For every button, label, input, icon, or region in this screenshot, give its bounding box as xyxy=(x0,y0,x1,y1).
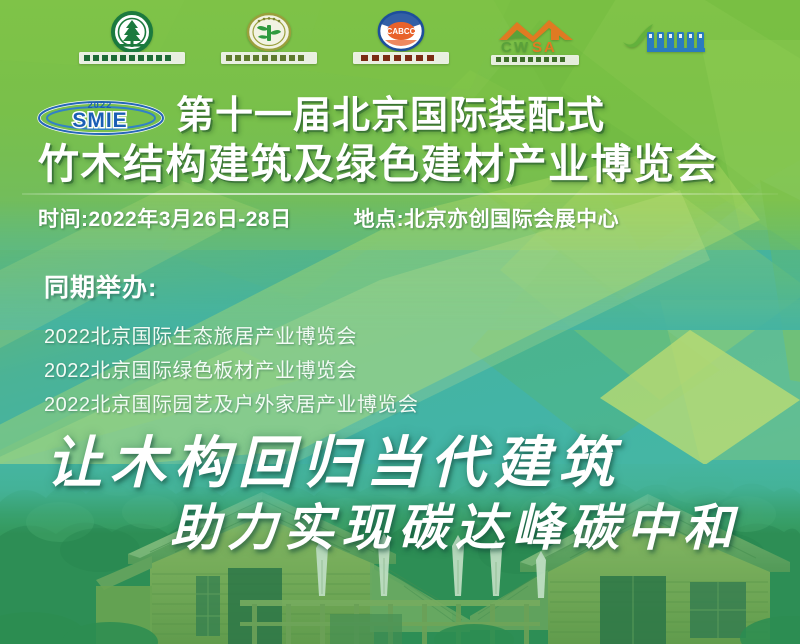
event-poster: CABCC C W S xyxy=(0,0,800,644)
concurrent-event-item: 2022北京国际生态旅居产业博览会 xyxy=(44,320,644,354)
svg-text:A: A xyxy=(544,39,555,56)
senmei-logo xyxy=(615,14,727,64)
headline-divider xyxy=(22,193,778,195)
event-meta: 时间:2022年3月26日-28日 地点:北京亦创国际会展中心 xyxy=(38,203,778,233)
svg-text:W: W xyxy=(514,39,529,56)
concurrent-events-title: 同期举办: xyxy=(44,268,644,304)
bamboo-industry-association-logo xyxy=(217,10,321,68)
concurrent-events-block: 同期举办: 2022北京国际生态旅居产业博览会 2022北京国际绿色板材产业博览… xyxy=(44,268,644,422)
svg-text:CABCC: CABCC xyxy=(387,27,416,36)
concurrent-event-item: 2022北京国际园艺及户外家居产业博览会 xyxy=(44,388,644,422)
concurrent-event-item: 2022北京国际绿色板材产业博览会 xyxy=(44,354,644,388)
smie-brand-logo: 2022 SMIE xyxy=(36,95,166,137)
svg-text:S: S xyxy=(532,39,542,56)
partner-logo-strip: CABCC C W S xyxy=(0,8,800,70)
rv-camping-committee-logo: CABCC xyxy=(347,10,455,68)
event-date: 时间:2022年3月26日-28日 xyxy=(38,203,292,233)
slogan-line-2: 助力实现碳达峰碳中和 xyxy=(170,488,740,560)
event-venue: 地点:北京亦创国际会展中心 xyxy=(354,203,620,233)
headline-line-2: 竹木结构建筑及绿色建材产业博览会 xyxy=(38,140,718,188)
headline-line-1: 第十一届北京国际装配式 xyxy=(176,94,605,138)
svg-text:SMIE: SMIE xyxy=(72,109,127,132)
china-wood-protection-association-logo xyxy=(73,10,191,68)
svg-text:C: C xyxy=(501,39,512,56)
slogan-line-1: 让木构回归当代建筑 xyxy=(46,418,622,499)
headline-row: 2022 SMIE 第十一届北京国际装配式 xyxy=(36,92,776,140)
china-wood-structure-industry-alliance-logo: C W S A xyxy=(481,10,589,68)
